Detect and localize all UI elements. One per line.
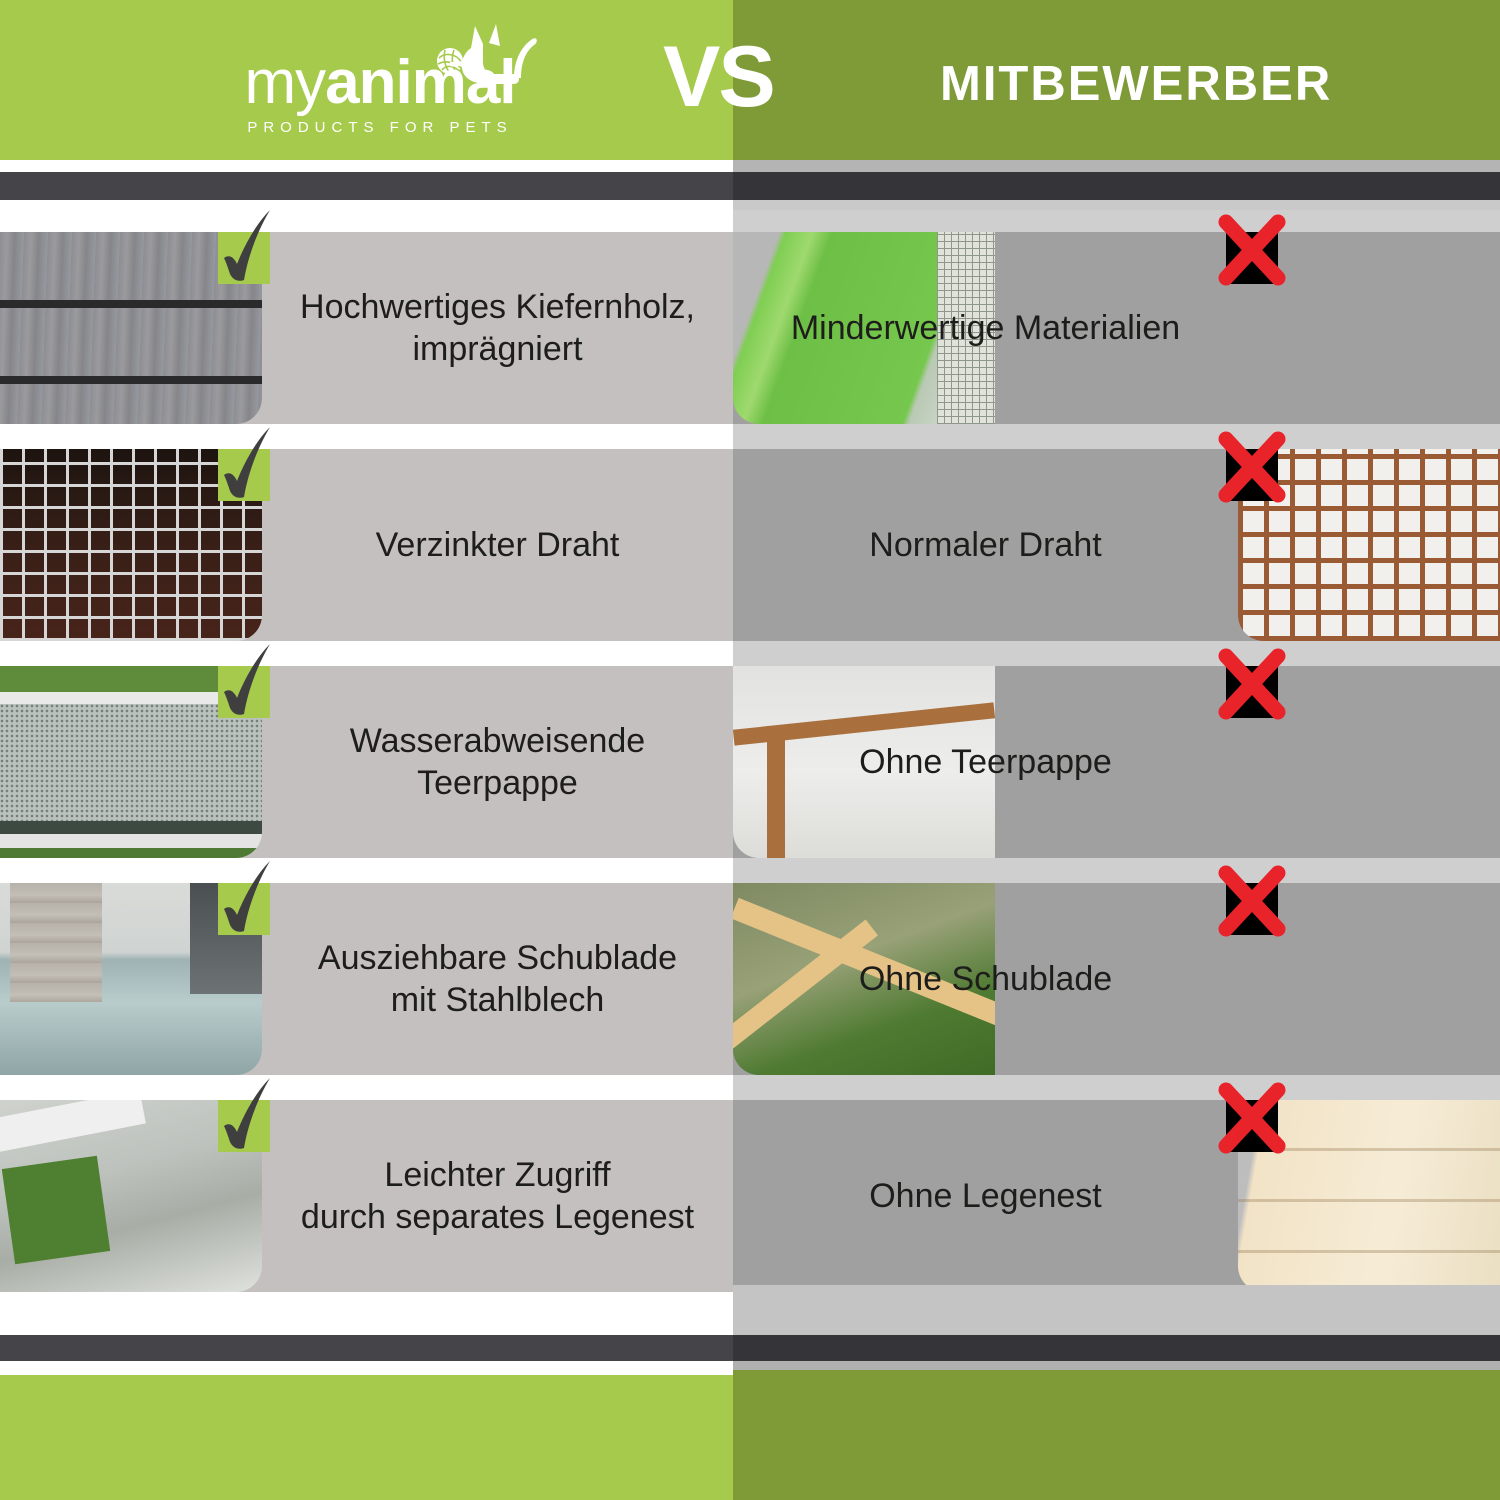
row-ours: Hochwertiges Kiefernholz,imprägniert (0, 232, 733, 424)
comparison-rows: Hochwertiges Kiefernholz,imprägniert Min… (0, 210, 1500, 1270)
brand-logo: myanimal PRODUCTS FOR PETS (205, 18, 555, 148)
brand-wordmark: myanimal (205, 52, 555, 114)
ours-label-line1: Hochwertiges Kiefernholz, (300, 288, 695, 326)
row-theirs: Ohne Teerpappe (733, 666, 1500, 858)
top-bar-shadow-right (733, 160, 1500, 172)
ours-label-line2: mit Stahlblech (391, 981, 605, 1019)
ours-label-line1: Wasserabweisende (350, 722, 645, 760)
brand-word-animal: animal (325, 48, 515, 117)
header: myanimal PRODUCTS FOR PETS VS MITBEWERBE… (0, 0, 1500, 160)
vs-label: VS (663, 34, 774, 120)
top-divider-bar-right (733, 172, 1500, 200)
ours-label-line1: Ausziehbare Schublade (318, 939, 677, 977)
theirs-label: Ohne Legenest (733, 1100, 1238, 1292)
brand-word-my: my (244, 48, 325, 117)
ours-label-line2: imprägniert (412, 330, 582, 368)
red-x-icon (1226, 883, 1278, 935)
red-x-icon (1226, 232, 1278, 284)
row-ours: Verzinkter Draht (0, 449, 733, 641)
theirs-label: Ohne Teerpappe (733, 666, 1238, 858)
row-ours: WasserabweisendeTeerpappe (0, 666, 733, 858)
check-icon (218, 232, 270, 284)
brand-tagline: PRODUCTS FOR PETS (205, 119, 555, 136)
ours-label: Hochwertiges Kiefernholz,imprägniert (262, 232, 733, 424)
bottom-bar-gap-right (733, 1285, 1500, 1335)
table-row: Leichter Zugriffdurch separates Legenest… (0, 1100, 1500, 1292)
row-theirs: Minderwertige Materialien (733, 232, 1500, 424)
top-bar-gap-right (733, 200, 1500, 210)
table-row: Hochwertiges Kiefernholz,imprägniert Min… (0, 232, 1500, 424)
table-row: WasserabweisendeTeerpappe Ohne Teerpappe (0, 666, 1500, 858)
red-x-icon (1226, 666, 1278, 718)
ours-label: Ausziehbare Schublademit Stahlblech (262, 883, 733, 1075)
row-theirs: Normaler Draht (733, 449, 1500, 641)
check-icon (218, 883, 270, 935)
row-theirs: Ohne Legenest (733, 1100, 1500, 1292)
row-ours: Ausziehbare Schublademit Stahlblech (0, 883, 733, 1075)
comparison-infographic: myanimal PRODUCTS FOR PETS VS MITBEWERBE… (0, 0, 1500, 1500)
ours-label: Verzinkter Draht (262, 449, 733, 641)
ours-label: WasserabweisendeTeerpappe (262, 666, 733, 858)
ours-label-line2: durch separates Legenest (301, 1198, 694, 1236)
theirs-label: Ohne Schublade (733, 883, 1238, 1075)
table-row: Verzinkter Draht Normaler Draht (0, 449, 1500, 641)
ours-label-line2: Teerpappe (417, 764, 578, 802)
check-icon (218, 1100, 270, 1152)
theirs-label: Normaler Draht (733, 449, 1238, 641)
ours-label: Leichter Zugriffdurch separates Legenest (262, 1100, 733, 1292)
footer-competitor-panel (733, 1370, 1500, 1500)
bottom-divider-bar-right (733, 1335, 1500, 1361)
row-theirs: Ohne Schublade (733, 883, 1500, 1075)
check-icon (218, 449, 270, 501)
competitor-title: MITBEWERBER (940, 60, 1332, 109)
footer-brand-panel (0, 1375, 733, 1500)
red-x-icon (1226, 1100, 1278, 1152)
ours-label-line1: Leichter Zugriff (384, 1156, 610, 1194)
theirs-label: Minderwertige Materialien (733, 232, 1238, 424)
red-x-icon (1226, 449, 1278, 501)
check-icon (218, 666, 270, 718)
row-ours: Leichter Zugriffdurch separates Legenest (0, 1100, 733, 1292)
table-row: Ausziehbare Schublademit Stahlblech Ohne… (0, 883, 1500, 1075)
